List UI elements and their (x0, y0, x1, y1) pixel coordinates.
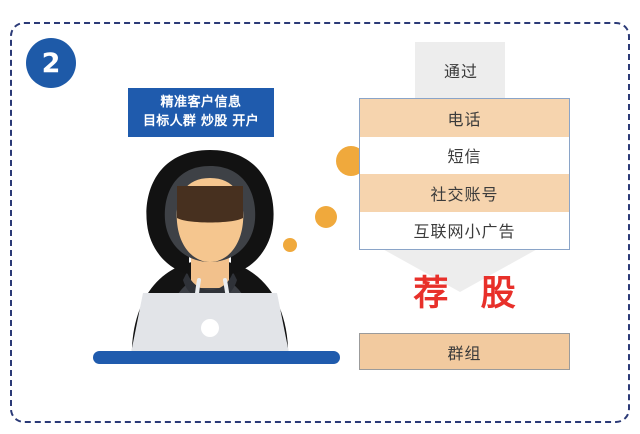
channel-list-box: 电话 短信 社交账号 互联网小广告 (359, 98, 570, 250)
channel-row-internet-ads: 互联网小广告 (360, 212, 569, 250)
laptop-logo-icon (201, 319, 219, 337)
hooded-hacker-illustration (95, 148, 325, 363)
step-number-label: 2 (42, 50, 61, 77)
target-info-caption-box: 精准客户信息 目标人群 炒股 开户 (128, 88, 274, 137)
channel-row-social: 社交账号 (360, 174, 569, 212)
orange-dot-small (283, 238, 297, 252)
orange-dot-medium (315, 206, 337, 228)
group-box: 群组 (359, 333, 570, 370)
eye-shadow-band (177, 186, 243, 223)
channel-row-sms: 短信 (360, 137, 569, 175)
caption-line-1: 精准客户信息 (160, 94, 241, 113)
step-number-badge: 2 (26, 38, 76, 88)
stock-recommendation-headline: 荐 股 (359, 268, 570, 312)
through-label: 通过 (415, 55, 507, 85)
channel-row-phone: 电话 (360, 99, 569, 137)
infographic-canvas: 2 精准客户信息 目标人群 炒股 开户 通过 (0, 0, 640, 434)
caption-line-2: 目标人群 炒股 开户 (143, 113, 259, 132)
desk-bar (93, 351, 340, 364)
